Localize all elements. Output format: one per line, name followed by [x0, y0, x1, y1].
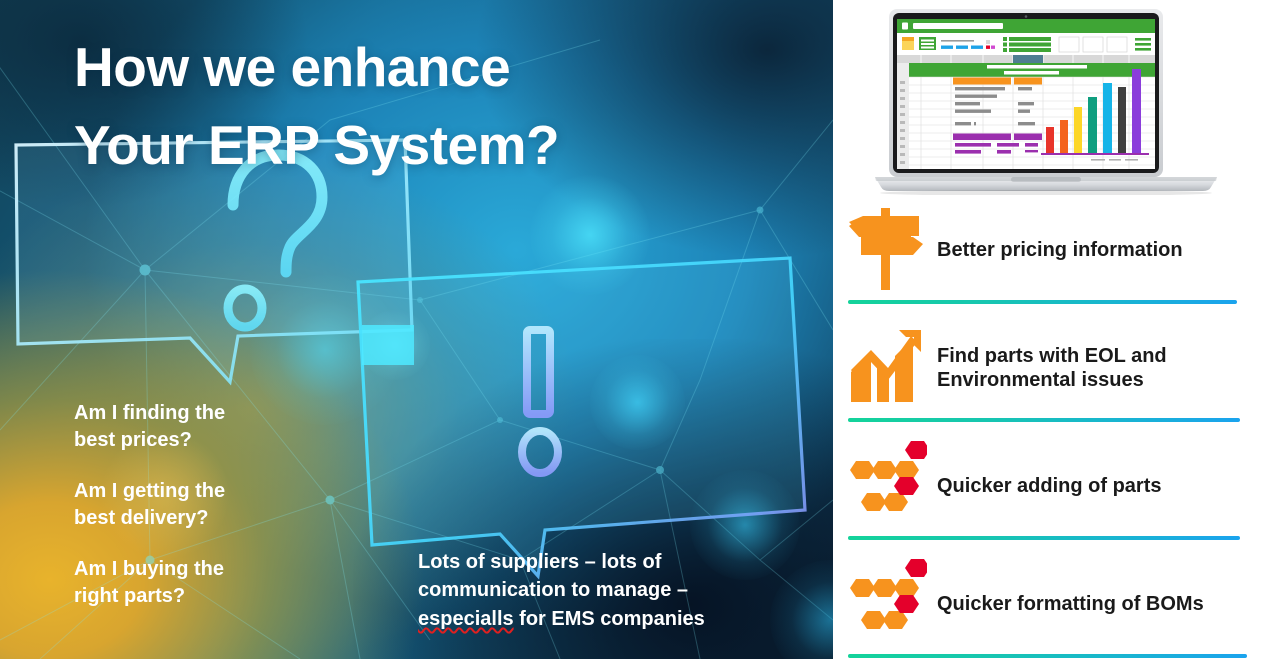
feature-label: Quicker adding of parts: [937, 474, 1161, 498]
feature-item-quicker-formatting[interactable]: Quicker formatting of BOMs: [845, 554, 1285, 659]
feature-label: Better pricing information: [937, 238, 1183, 262]
feature-divider: [848, 654, 1247, 658]
right-features-panel: Better pricing information: [833, 0, 1285, 659]
feature-divider: [848, 536, 1240, 540]
feature-list: Better pricing information: [845, 200, 1285, 659]
hexagon-cluster-icon: [845, 446, 927, 526]
feature-label: Quicker formatting of BOMs: [937, 592, 1204, 616]
presentation-slide: How we enhance Your ERP System? Am I fin…: [0, 0, 1285, 659]
supplier-note: Lots of suppliers – lots of communicatio…: [418, 548, 818, 633]
question-list: Am I finding the best prices? Am I getti…: [74, 400, 225, 610]
question-item-3: Am I buying the right parts?: [74, 556, 225, 609]
feature-divider: [848, 300, 1237, 304]
exclamation-speech-bubble: [358, 258, 805, 576]
hexagon-cluster-icon: [845, 564, 927, 644]
signpost-icon: [845, 210, 927, 290]
feature-item-eol-environmental[interactable]: Find parts with EOL and Environmental is…: [845, 318, 1285, 436]
supplier-note-line-2: communication to manage –: [418, 579, 688, 601]
feature-divider: [848, 418, 1240, 422]
feature-item-quicker-adding[interactable]: Quicker adding of parts: [845, 436, 1285, 554]
feature-item-better-pricing[interactable]: Better pricing information: [845, 200, 1285, 318]
spreadsheet-screen: [897, 19, 1155, 169]
laptop-spreadsheet-mockup: [873, 5, 1218, 195]
growth-chart-icon: [845, 328, 927, 408]
feature-label: Find parts with EOL and Environmental is…: [937, 344, 1167, 393]
misspelled-word: especialls: [418, 608, 514, 630]
question-item-2: Am I getting the best delivery?: [74, 478, 225, 531]
question-item-1: Am I finding the best prices?: [74, 400, 225, 453]
slide-title: How we enhance Your ERP System?: [74, 28, 559, 184]
left-hero-panel: How we enhance Your ERP System? Am I fin…: [0, 0, 833, 659]
supplier-note-line-3-rest: for EMS companies: [514, 608, 705, 630]
supplier-note-line-1: Lots of suppliers – lots of: [418, 551, 661, 573]
